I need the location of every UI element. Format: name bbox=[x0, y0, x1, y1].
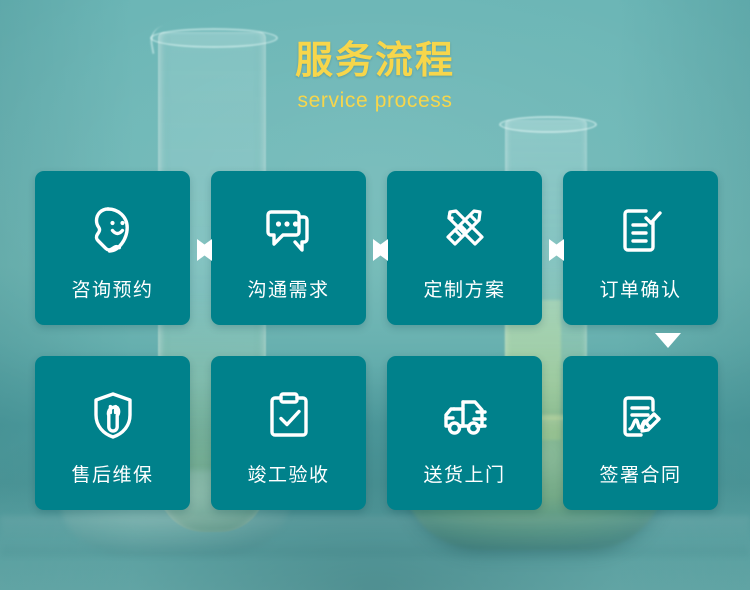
step-card-completion-acceptance[interactable]: 竣工验收 bbox=[211, 356, 366, 510]
step-card-consultation[interactable]: 咨询预约 bbox=[35, 171, 190, 325]
arrow-step6-to-step7 bbox=[373, 239, 388, 261]
phone-smile-icon bbox=[81, 199, 145, 263]
step-card-label: 售后维保 bbox=[71, 466, 153, 485]
contract-signature-icon bbox=[609, 384, 673, 448]
page-title: 服务流程 bbox=[0, 40, 750, 84]
step-card-after-sales[interactable]: 售后维保 bbox=[35, 356, 190, 510]
banner-heading: 服务流程 service process bbox=[0, 40, 750, 113]
clipboard-check-icon bbox=[257, 384, 321, 448]
step-card-custom-solution[interactable]: 定制方案 bbox=[387, 171, 542, 325]
process-row-bottom: 售后维保 竣工验收 bbox=[35, 356, 719, 510]
step-card-label: 签署合同 bbox=[599, 466, 681, 485]
arrow-step4-to-step5 bbox=[655, 333, 681, 348]
arrow-step7-to-step8 bbox=[197, 239, 212, 261]
step-card-label: 送货上门 bbox=[423, 466, 505, 485]
delivery-truck-icon bbox=[433, 384, 497, 448]
step-card-delivery[interactable]: 送货上门 bbox=[387, 356, 542, 510]
pencil-ruler-icon bbox=[433, 199, 497, 263]
step-card-communication[interactable]: 沟通需求 bbox=[211, 171, 366, 325]
service-process-banner: 服务流程 service process 咨询预约 bbox=[0, 0, 750, 590]
step-card-label: 沟通需求 bbox=[247, 281, 329, 300]
step-card-sign-contract[interactable]: 签署合同 bbox=[563, 356, 718, 510]
step-card-label: 定制方案 bbox=[423, 281, 505, 300]
chat-bubbles-icon bbox=[257, 199, 321, 263]
shield-wrench-icon bbox=[81, 384, 145, 448]
step-card-order-confirmation[interactable]: 订单确认 bbox=[563, 171, 718, 325]
step-card-label: 订单确认 bbox=[599, 281, 681, 300]
step-card-label: 竣工验收 bbox=[247, 466, 329, 485]
arrow-step5-to-step6 bbox=[549, 239, 564, 261]
step-card-label: 咨询预约 bbox=[71, 281, 153, 300]
document-check-icon bbox=[609, 199, 673, 263]
process-steps-grid: 咨询预约 沟通需求 bbox=[35, 171, 719, 510]
page-subtitle: service process bbox=[0, 88, 750, 113]
